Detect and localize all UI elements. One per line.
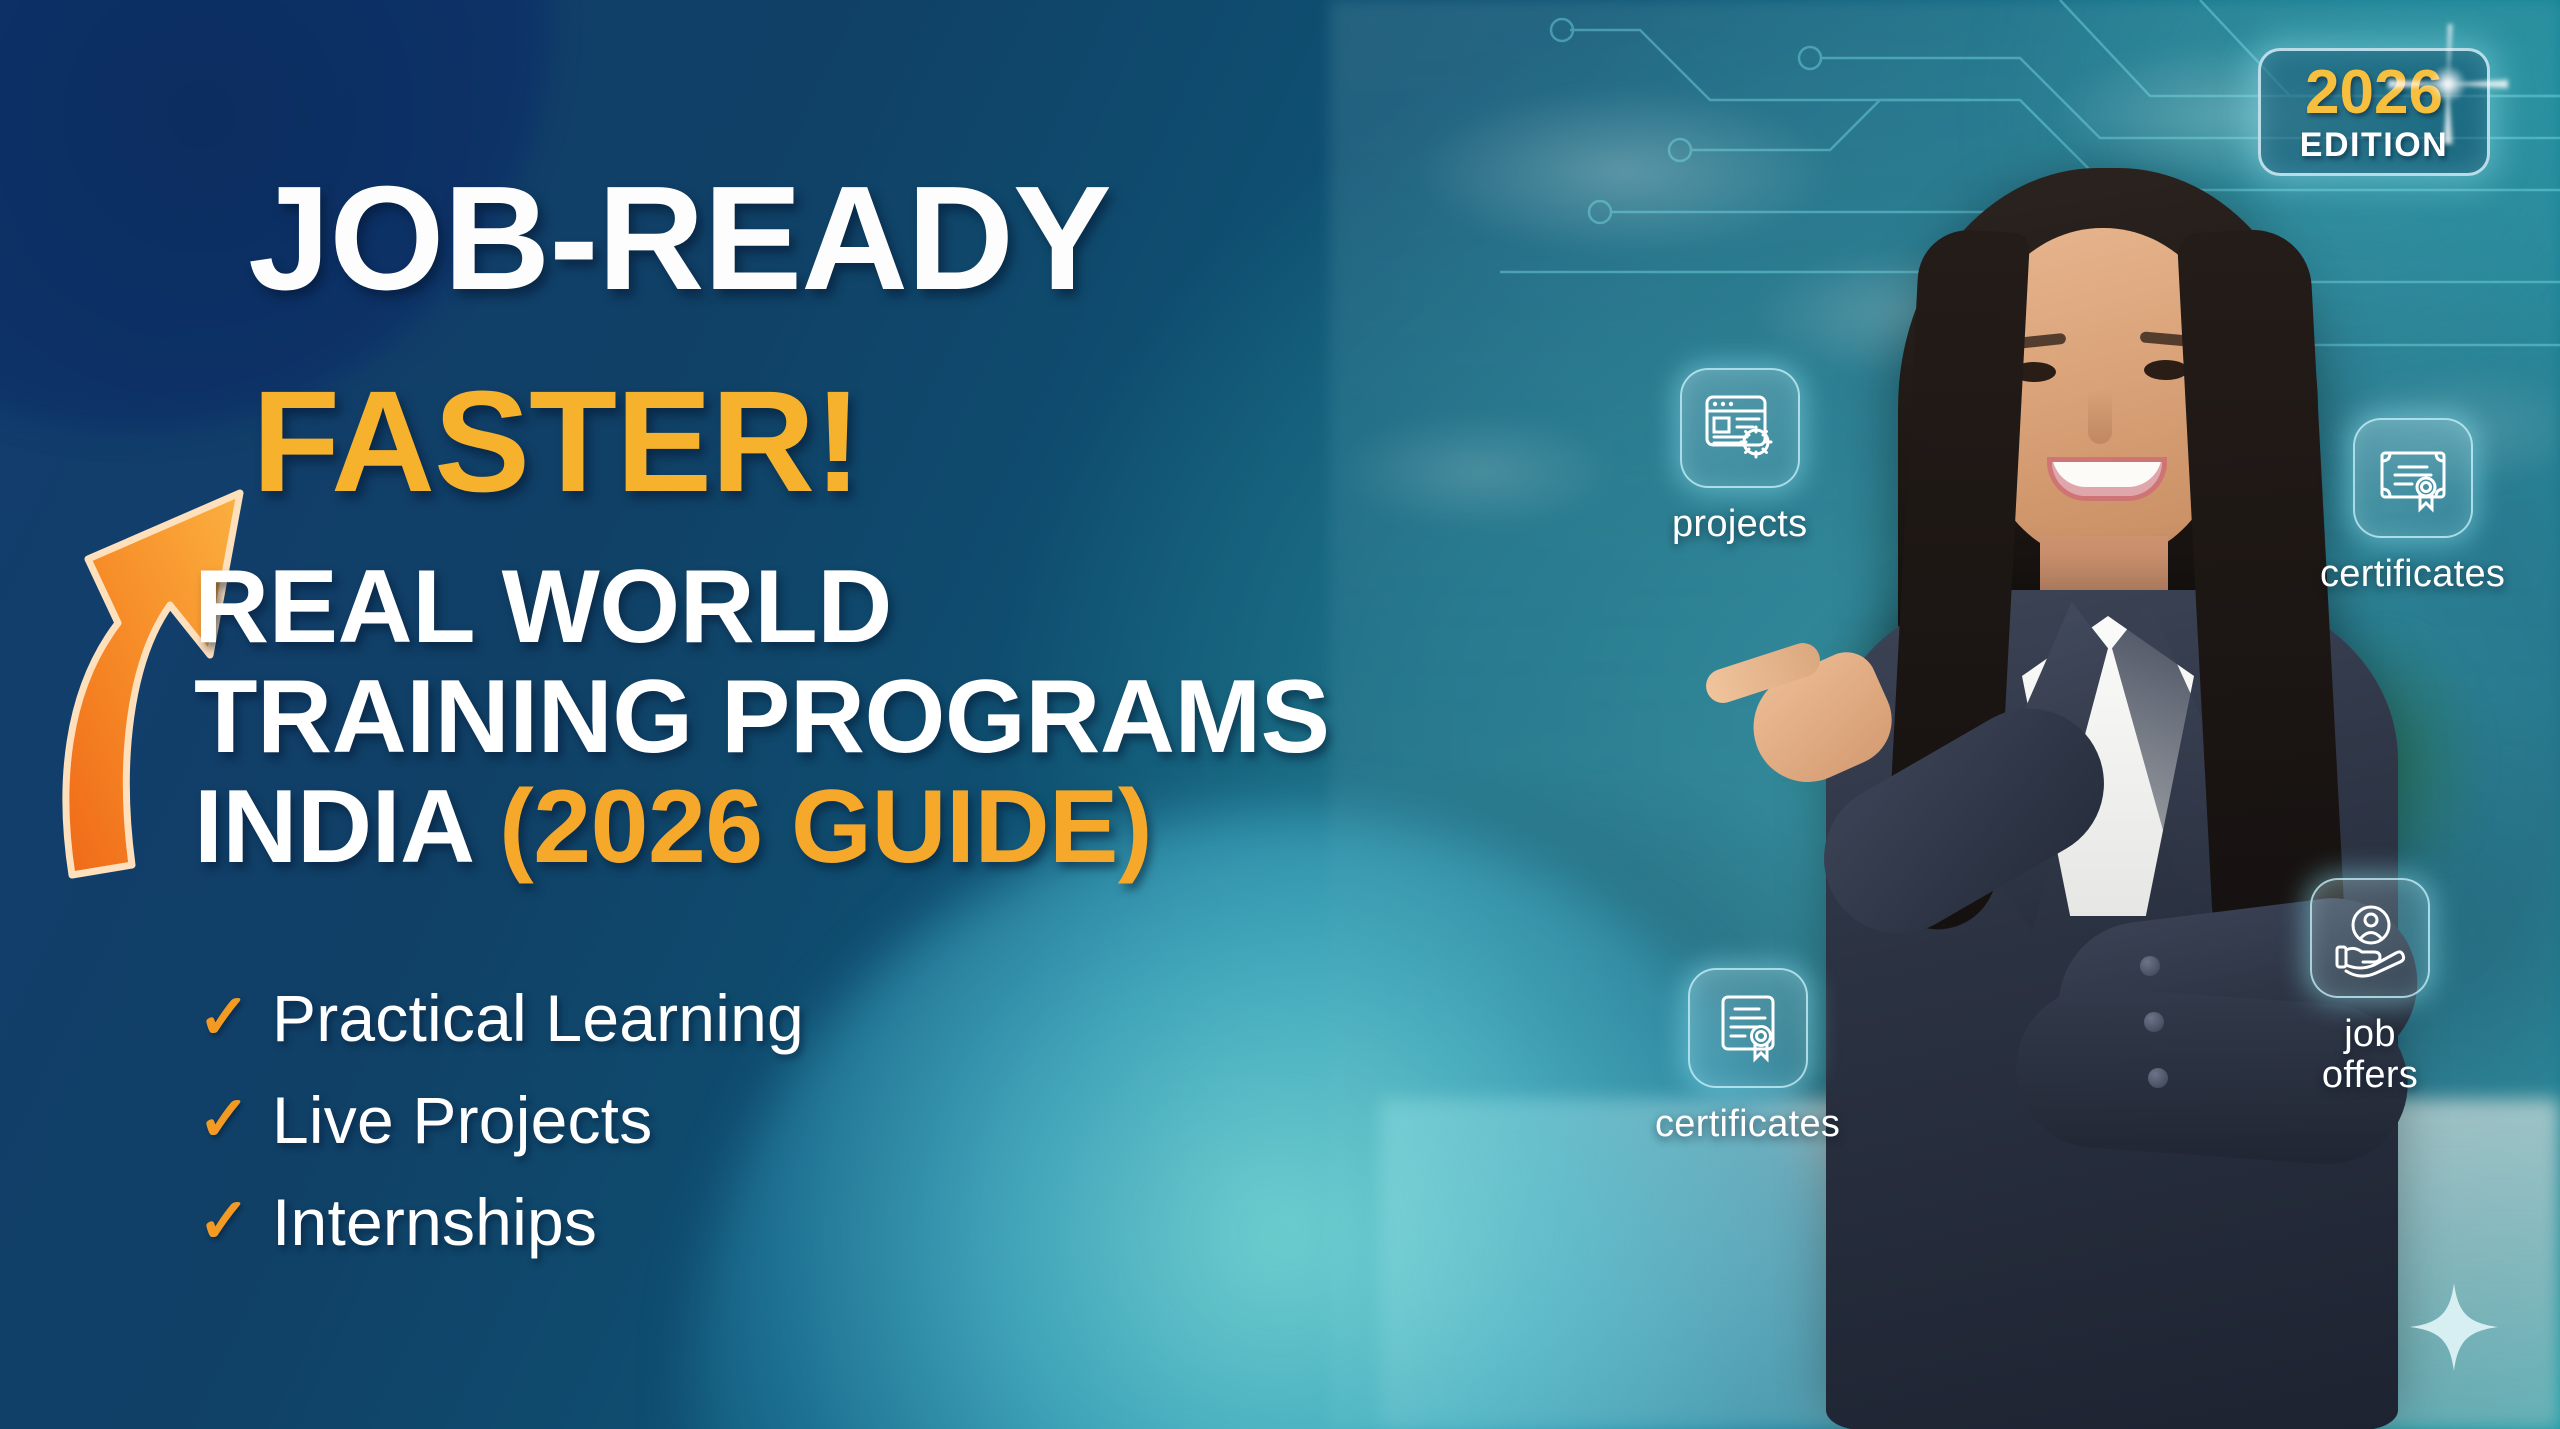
subheadline-line-1: REAL WORLD: [194, 552, 1330, 662]
badge-edition: EDITION: [2300, 128, 2448, 162]
floating-icon-certificates-right: certificates: [2320, 418, 2505, 595]
floating-icon-projects: projects: [1672, 368, 1807, 545]
badge-year: 2026: [2305, 62, 2443, 124]
edition-badge: 2026 EDITION: [2258, 48, 2490, 176]
subheadline-country: INDIA: [194, 769, 471, 885]
feature-label: Practical Learning: [272, 980, 804, 1056]
floating-icon-certificates-left: certificates: [1655, 968, 1840, 1145]
icon-label: certificates: [1655, 1104, 1840, 1145]
subheadline-guide-year: (2026 GUIDE): [499, 769, 1152, 885]
check-icon: ✓: [198, 1191, 272, 1253]
headline-line-2: FASTER!: [252, 370, 861, 514]
promotional-banner: JOB-READY FASTER! REAL WORLD TRAINING PR…: [0, 0, 2560, 1429]
subheadline: REAL WORLD TRAINING PROGRAMS INDIA (2026…: [194, 552, 1330, 883]
icon-label: certificates: [2320, 554, 2505, 595]
list-item: ✓ Internships: [198, 1184, 804, 1260]
icon-label: projects: [1672, 504, 1807, 545]
hand-person-icon: [2310, 878, 2430, 998]
copy-block: JOB-READY FASTER! REAL WORLD TRAINING PR…: [0, 0, 1560, 1429]
feature-label: Internships: [272, 1184, 597, 1260]
feature-list: ✓ Practical Learning ✓ Live Projects ✓ I…: [198, 980, 804, 1286]
subheadline-line-2: TRAINING PROGRAMS: [194, 662, 1330, 772]
floating-icon-job-offers: job offers: [2310, 878, 2430, 1096]
check-icon: ✓: [198, 987, 272, 1049]
browser-gear-icon: [1680, 368, 1800, 488]
subheadline-line-3: INDIA (2026 GUIDE): [194, 772, 1330, 882]
icon-label: job offers: [2322, 1014, 2418, 1096]
list-item: ✓ Live Projects: [198, 1082, 804, 1158]
certificate-landscape-icon: [2353, 418, 2473, 538]
headline-line-1: JOB-READY: [248, 165, 1111, 313]
check-icon: ✓: [198, 1089, 272, 1151]
list-item: ✓ Practical Learning: [198, 980, 804, 1056]
certificate-portrait-icon: [1688, 968, 1808, 1088]
feature-label: Live Projects: [272, 1082, 652, 1158]
presenter-photo: [1740, 150, 2480, 1429]
